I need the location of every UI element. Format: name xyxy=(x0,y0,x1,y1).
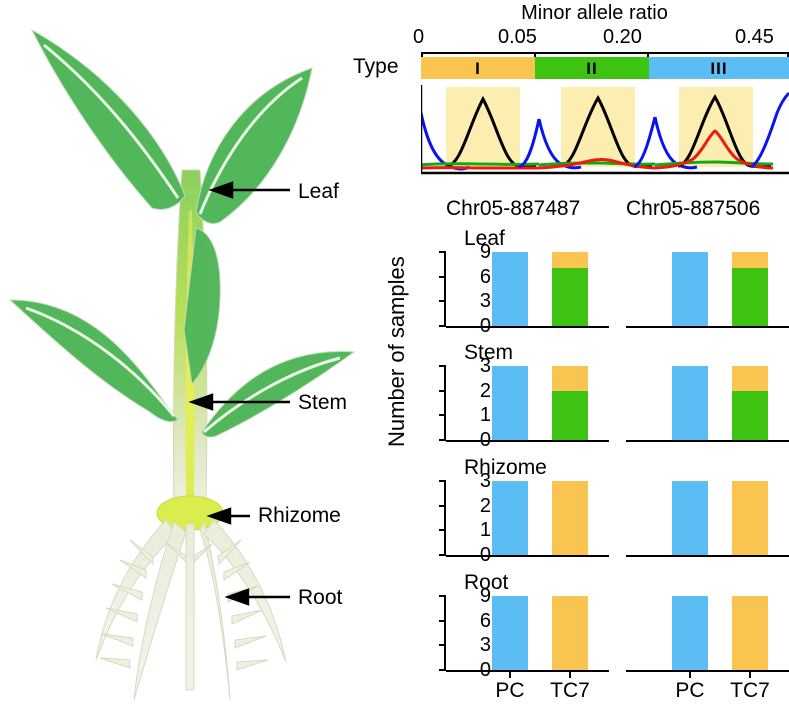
type-legend-bar: I II III xyxy=(421,57,789,79)
x-tick-mark xyxy=(569,672,571,678)
bar-pc xyxy=(492,366,528,440)
callout-label-root: Root xyxy=(298,587,342,608)
bar-panel-leaf: Leaf 0369 xyxy=(418,228,789,333)
x-axis-line xyxy=(446,670,609,672)
snp-column-title-1: Chr05-887506 xyxy=(626,198,760,219)
type-segment-ii-label: II xyxy=(586,60,597,77)
x-tick-label-pc: PC xyxy=(660,680,720,701)
leaf-mid-left xyxy=(10,300,178,422)
y-axis-line xyxy=(444,252,446,326)
plot-area-rhizome: 0123 xyxy=(418,481,789,555)
bar-segment-type-ii xyxy=(552,391,588,440)
bar-segment-type-iii xyxy=(492,366,528,440)
bar-segment-type-iii xyxy=(672,366,708,440)
bar-segment-type-iii xyxy=(492,252,528,326)
bar-segment-type-iii xyxy=(492,596,528,670)
y-axis-line xyxy=(444,596,446,670)
type-segment-iii: III xyxy=(649,57,789,79)
plot-area-root: 0369PCTC7PCTC7 xyxy=(418,596,789,670)
bar-panel-stem: Stem 0123 xyxy=(418,342,789,447)
bar-segment-type-i xyxy=(732,596,768,670)
bar-tc7 xyxy=(732,596,768,670)
bar-segment-type-i xyxy=(552,252,588,268)
bar-pc xyxy=(492,252,528,326)
x-tick-label-pc: PC xyxy=(480,680,540,701)
bar-segment-type-ii xyxy=(732,268,768,326)
bar-pc xyxy=(492,481,528,555)
y-tick-label: 9 xyxy=(480,586,491,606)
bar-pc xyxy=(672,366,708,440)
y-tick-label: 3 xyxy=(480,471,491,491)
plot-area-stem: 0123 xyxy=(418,366,789,440)
bar-segment-type-i xyxy=(732,366,768,391)
figure-root: Leaf Stem Rhizome Root Minor allele rati… xyxy=(0,0,789,706)
x-tick-mark xyxy=(509,672,511,678)
bar-tc7 xyxy=(732,252,768,326)
bar-pc xyxy=(492,596,528,670)
bar-segment-type-i xyxy=(552,596,588,670)
x-axis-line xyxy=(626,326,789,328)
bar-segment-type-iii xyxy=(492,481,528,555)
plant-diagram: Leaf Stem Rhizome Root xyxy=(0,0,400,706)
root-system xyxy=(96,520,286,700)
panel-title-rhizome: Rhizome xyxy=(464,457,547,478)
scale-tick-label-1: 0.05 xyxy=(498,27,537,47)
callout-label-leaf: Leaf xyxy=(298,181,339,202)
bar-pc xyxy=(672,481,708,555)
bar-panel-root: Root 0369PCTC7PCTC7 xyxy=(418,572,789,677)
plot-area-leaf: 0369 xyxy=(418,252,789,326)
bar-tc7 xyxy=(552,481,588,555)
bar-tc7 xyxy=(732,481,768,555)
x-tick-mark xyxy=(749,672,751,678)
y-axis-line xyxy=(444,366,446,440)
y-tick-label: 6 xyxy=(480,267,491,287)
y-tick-label: 3 xyxy=(480,356,491,376)
y-tick-label: 2 xyxy=(480,496,491,516)
type-segment-i: I xyxy=(421,57,535,79)
x-axis-line xyxy=(446,440,609,442)
x-tick-label-tc7: TC7 xyxy=(540,680,600,701)
snp-column-title-0: Chr05-887487 xyxy=(446,198,580,219)
bar-segment-type-ii xyxy=(552,268,588,326)
scale-axis-line xyxy=(421,52,789,54)
type-segment-iii-label: III xyxy=(710,60,727,77)
y-tick-label: 3 xyxy=(480,635,491,655)
leaf-upper-right xyxy=(196,68,312,224)
bar-segment-type-ii xyxy=(732,391,768,440)
scale-tick-label-0: 0 xyxy=(413,27,424,47)
y-tick-label: 6 xyxy=(480,611,491,631)
x-axis-line xyxy=(626,670,789,672)
leaf-upper-left xyxy=(32,30,185,210)
x-axis-line xyxy=(626,440,789,442)
bar-segment-type-i xyxy=(732,252,768,268)
type-segment-ii: II xyxy=(535,57,649,79)
minor-allele-ratio-title: Minor allele ratio xyxy=(400,2,789,24)
x-axis-line xyxy=(626,555,789,557)
x-tick-mark xyxy=(689,672,691,678)
bar-segment-type-iii xyxy=(672,481,708,555)
x-axis-line xyxy=(446,326,609,328)
bar-segment-type-i xyxy=(732,481,768,555)
callout-label-rhizome: Rhizome xyxy=(258,505,341,526)
bar-segment-type-iii xyxy=(672,252,708,326)
bar-segment-type-i xyxy=(552,481,588,555)
bar-segment-type-i xyxy=(552,366,588,391)
x-tick-label-tc7: TC7 xyxy=(720,680,780,701)
bar-pc xyxy=(672,596,708,670)
right-panel: Minor allele ratio 0 0.05 0.20 0.45 Type… xyxy=(400,0,789,706)
x-axis-line xyxy=(446,555,609,557)
bar-segment-type-iii xyxy=(672,596,708,670)
bar-tc7 xyxy=(732,366,768,440)
type-axis-label: Type xyxy=(353,56,399,77)
y-tick-label: 9 xyxy=(480,242,491,262)
density-curves-plot xyxy=(421,85,789,175)
y-axis-line xyxy=(444,481,446,555)
y-tick-label: 1 xyxy=(480,405,491,425)
bar-tc7 xyxy=(552,252,588,326)
scale-tick-label-2: 0.20 xyxy=(603,27,642,47)
y-tick-label: 3 xyxy=(480,291,491,311)
bar-pc xyxy=(672,252,708,326)
y-tick-label: 2 xyxy=(480,381,491,401)
callout-label-stem: Stem xyxy=(298,392,347,413)
bar-tc7 xyxy=(552,366,588,440)
y-axis-label: Number of samples xyxy=(386,256,408,447)
bar-tc7 xyxy=(552,596,588,670)
y-tick-label: 1 xyxy=(480,520,491,540)
type-segment-i-label: I xyxy=(475,60,481,77)
scale-tick-label-3: 0.45 xyxy=(735,27,774,47)
bar-panel-rhizome: Rhizome 0123 xyxy=(418,457,789,562)
